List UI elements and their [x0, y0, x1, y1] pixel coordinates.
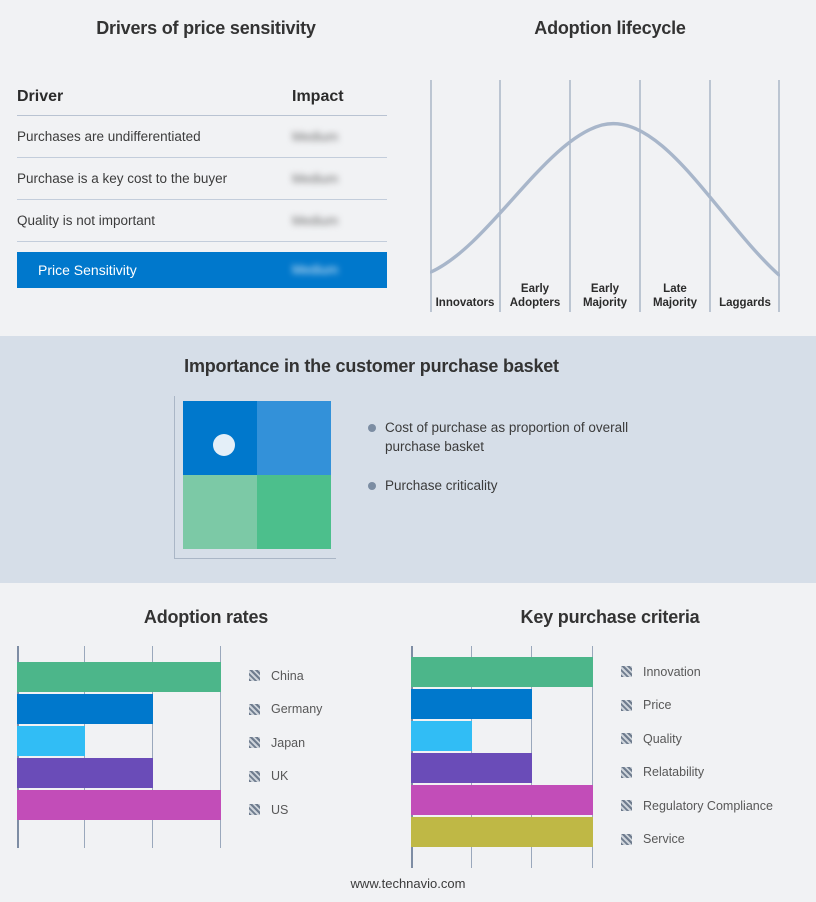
hatched-swatch-icon [621, 666, 632, 677]
column-header-driver: Driver [17, 88, 292, 106]
lifecycle-stage-late-majority: Late Majority [640, 266, 710, 312]
bullet-icon [368, 482, 376, 490]
driver-label: Quality is not important [17, 213, 292, 228]
highlight-label: Price Sensitivity [38, 262, 292, 278]
legend-label-price: Price [643, 698, 671, 712]
position-dot-icon [213, 434, 235, 456]
impact-value-redacted: Medium [292, 213, 338, 228]
impact-value-redacted: Medium [292, 129, 338, 144]
table-row: Purchase is a key cost to the buyer Medi… [17, 158, 387, 200]
infographic-page: Drivers of price sensitivity Driver Impa… [0, 0, 816, 902]
hatched-swatch-icon [249, 670, 260, 681]
hatched-swatch-icon [621, 834, 632, 845]
list-item: Service [621, 823, 773, 857]
purchase-criteria-panel-title: Key purchase criteria [420, 607, 800, 628]
hatched-swatch-icon [621, 733, 632, 744]
legend-label-regulatory-compliance: Regulatory Compliance [643, 799, 773, 813]
hatched-swatch-icon [621, 700, 632, 711]
legend-label-japan: Japan [271, 736, 305, 750]
hatched-swatch-icon [249, 804, 260, 815]
matrix-x-axis [174, 558, 336, 559]
bar-quality [411, 721, 472, 751]
basket-panel-title: Importance in the customer purchase bask… [108, 356, 635, 377]
lifecycle-stage-labels: Innovators Early Adopters Early Majority… [430, 266, 780, 312]
adoption-rates-bars [17, 662, 221, 822]
lifecycle-stage-early-majority: Early Majority [570, 266, 640, 312]
table-row: Quality is not important Medium [17, 200, 387, 242]
adoption-lifecycle-chart: Innovators Early Adopters Early Majority… [430, 80, 780, 312]
list-item: Cost of purchase as proportion of overal… [368, 418, 658, 456]
list-item: Regulatory Compliance [621, 789, 773, 823]
list-item: Price [621, 689, 773, 723]
purchase-criteria-bars [411, 657, 593, 849]
legend-label-china: China [271, 669, 304, 683]
lifecycle-panel-title: Adoption lifecycle [420, 18, 800, 39]
purchase-criteria-legend: Innovation Price Quality Relatability Re… [621, 655, 773, 856]
matrix-y-axis [174, 396, 175, 558]
legend-label-uk: UK [271, 769, 288, 783]
hatched-swatch-icon [621, 800, 632, 811]
drivers-table: Driver Impact Purchases are undifferenti… [17, 88, 387, 288]
bullet-icon [368, 424, 376, 432]
lifecycle-stage-early-adopters: Early Adopters [500, 266, 570, 312]
hatched-swatch-icon [621, 767, 632, 778]
drivers-table-header: Driver Impact [17, 88, 387, 116]
impact-value-redacted: Medium [292, 171, 338, 186]
list-item: Japan [249, 726, 322, 760]
bar-regulatory-compliance [411, 785, 593, 815]
driver-label: Purchases are undifferentiated [17, 129, 292, 144]
basket-legend-label: Cost of purchase as proportion of overal… [385, 418, 658, 456]
price-sensitivity-highlight-row: Price Sensitivity Medium [17, 252, 387, 288]
list-item: Purchase criticality [368, 476, 658, 495]
list-item: UK [249, 760, 322, 794]
basket-legend: Cost of purchase as proportion of overal… [368, 418, 658, 515]
legend-label-germany: Germany [271, 702, 322, 716]
legend-label-quality: Quality [643, 732, 682, 746]
basket-legend-label: Purchase criticality [385, 476, 498, 495]
table-row: Purchases are undifferentiated Medium [17, 116, 387, 158]
driver-label: Purchase is a key cost to the buyer [17, 171, 292, 186]
adoption-rates-panel-title: Adoption rates [17, 607, 395, 628]
highlight-impact-redacted: Medium [292, 262, 338, 277]
legend-label-innovation: Innovation [643, 665, 701, 679]
legend-label-us: US [271, 803, 288, 817]
bar-relatability [411, 753, 532, 783]
bar-japan [17, 726, 85, 756]
list-item: Quality [621, 722, 773, 756]
list-item: Relatability [621, 756, 773, 790]
bar-uk [17, 758, 153, 788]
bar-innovation [411, 657, 593, 687]
drivers-panel-title: Drivers of price sensitivity [17, 18, 395, 39]
hatched-swatch-icon [249, 771, 260, 782]
bar-service [411, 817, 593, 847]
hatched-swatch-icon [249, 704, 260, 715]
adoption-rates-legend: China Germany Japan UK US [249, 659, 322, 827]
legend-label-service: Service [643, 832, 685, 846]
list-item: Innovation [621, 655, 773, 689]
adoption-rates-chart: China Germany Japan UK US [17, 646, 387, 848]
key-purchase-criteria-chart: Innovation Price Quality Relatability Re… [411, 646, 806, 876]
footer-url: www.technavio.com [0, 876, 816, 891]
column-header-impact: Impact [292, 88, 387, 106]
lifecycle-stage-laggards: Laggards [710, 266, 780, 312]
quadrant-bottom-left [183, 475, 257, 549]
adoption-rates-plot [17, 646, 221, 848]
list-item: China [249, 659, 322, 693]
bar-price [411, 689, 532, 719]
lifecycle-stage-innovators: Innovators [430, 266, 500, 312]
list-item: US [249, 793, 322, 827]
matrix-quadrants [183, 401, 331, 549]
bar-us [17, 790, 221, 820]
legend-label-relatability: Relatability [643, 765, 704, 779]
quadrant-bottom-right [257, 475, 331, 549]
purchase-criteria-plot [411, 646, 593, 868]
list-item: Germany [249, 693, 322, 727]
hatched-swatch-icon [249, 737, 260, 748]
purchase-basket-matrix [183, 401, 331, 549]
bar-china [17, 662, 221, 692]
bar-germany [17, 694, 153, 724]
quadrant-top-right [257, 401, 331, 475]
